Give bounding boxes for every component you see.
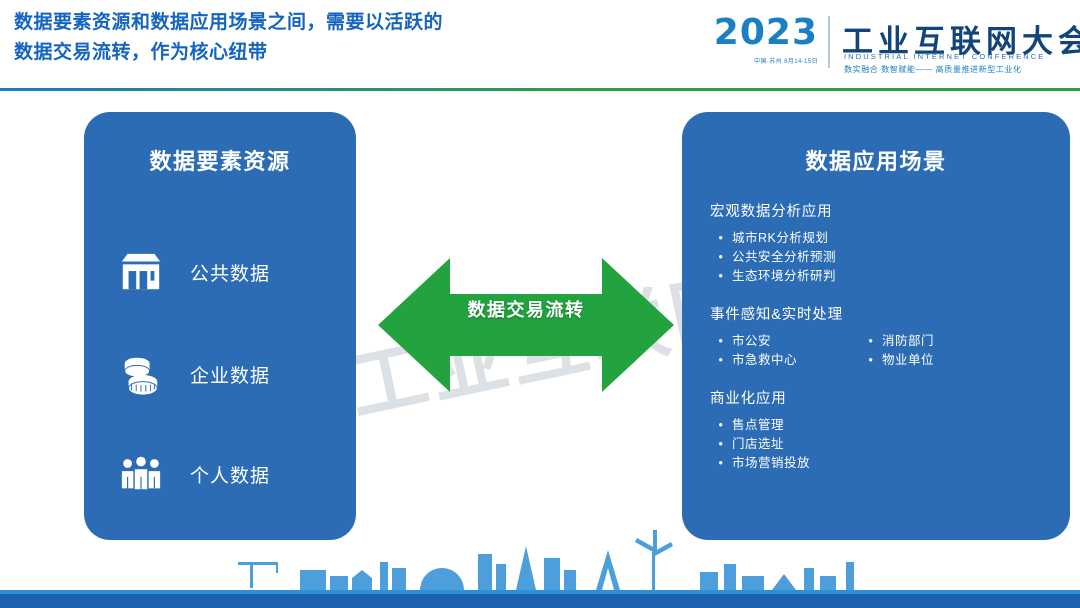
slide-canvas: 数据要素资源和数据应用场景之间，需要以活跃的 数据交易流转，作为核心纽带 202…	[0, 0, 1080, 608]
bullet-dot: •	[710, 267, 732, 286]
right-panel-body: 宏观数据分析应用 •城市RK分析规划 •公共安全分析预测 •生态环境分析研判 事…	[710, 200, 1050, 490]
page-title: 数据要素资源和数据应用场景之间，需要以活跃的 数据交易流转，作为核心纽带	[14, 8, 654, 68]
section-column: •售点管理 •门店选址 •市场营销投放	[710, 416, 970, 473]
bullet-label: 售点管理	[732, 416, 784, 435]
header-divider-rule	[0, 88, 1080, 91]
bullet-label: 市场营销投放	[732, 454, 810, 473]
bullet-dot: •	[860, 332, 882, 351]
bullet-dot: •	[860, 351, 882, 370]
section-commercial-applications: 商业化应用 •售点管理 •门店选址 •市场营销投放	[710, 387, 1050, 473]
section-heading: 事件感知&实时处理	[710, 303, 1050, 324]
section-heading: 商业化应用	[710, 387, 1050, 408]
bullet-label: 市急救中心	[732, 351, 797, 370]
logo-year-subtitle: 中国·苏州 8月14-15日	[650, 56, 818, 65]
bullet-label: 门店选址	[732, 435, 784, 454]
logo-year: 2023	[650, 12, 818, 53]
bullet-item: •城市RK分析规划	[710, 229, 970, 248]
list-item-enterprise-data: 企业数据	[118, 352, 270, 396]
bullet-item: •市场营销投放	[710, 454, 970, 473]
logo-divider	[828, 16, 830, 68]
bullet-item: •市公安	[710, 332, 860, 351]
skyline-decoration	[0, 518, 1080, 608]
bullet-item: •物业单位	[860, 351, 1010, 370]
exchange-arrow	[378, 250, 674, 400]
bullet-label: 生态环境分析研判	[732, 267, 836, 286]
bullet-label: 市公安	[732, 332, 771, 351]
section-column: •消防部门 •物业单位	[860, 332, 1010, 370]
title-line-2: 数据交易流转，作为核心纽带	[14, 38, 654, 68]
people-icon	[118, 452, 164, 496]
left-panel-title: 数据要素资源	[84, 144, 356, 176]
bullet-item: •生态环境分析研判	[710, 267, 970, 286]
bullet-item: •市急救中心	[710, 351, 860, 370]
coins-icon	[118, 352, 164, 396]
bullet-label: 物业单位	[882, 351, 934, 370]
bullet-dot: •	[710, 332, 732, 351]
section-column: •市公安 •市急救中心	[710, 332, 860, 370]
bullet-item: •门店选址	[710, 435, 970, 454]
right-panel-title: 数据应用场景	[682, 144, 1070, 176]
conference-logo: 2023 中国·苏州 8月14-15日 工业互联网大会 INDUSTRIAL I…	[650, 12, 1070, 78]
section-event-sensing: 事件感知&实时处理 •市公安 •市急救中心 •消防部门 •物业单位	[710, 303, 1050, 370]
logo-slogan: 数实融合 数智赋能—— 高质量推进新型工业化	[844, 64, 1022, 75]
list-item-label: 企业数据	[190, 361, 270, 388]
list-item-label: 公共数据	[190, 259, 270, 286]
bullet-label: 消防部门	[882, 332, 934, 351]
bullet-dot: •	[710, 416, 732, 435]
list-item-personal-data: 个人数据	[118, 452, 270, 496]
bullet-item: •公共安全分析预测	[710, 248, 970, 267]
left-panel-data-resources: 数据要素资源 公共数据	[84, 112, 356, 540]
bullet-dot: •	[710, 454, 732, 473]
right-panel-application-scenarios: 数据应用场景 宏观数据分析应用 •城市RK分析规划 •公共安全分析预测 •生态环…	[682, 112, 1070, 540]
shop-icon	[118, 250, 164, 294]
bullet-label: 公共安全分析预测	[732, 248, 836, 267]
title-line-1: 数据要素资源和数据应用场景之间，需要以活跃的	[14, 8, 654, 38]
list-item-public-data: 公共数据	[118, 250, 270, 294]
arrow-label: 数据交易流转	[378, 296, 674, 322]
section-heading: 宏观数据分析应用	[710, 200, 1050, 221]
section-macro-analysis: 宏观数据分析应用 •城市RK分析规划 •公共安全分析预测 •生态环境分析研判	[710, 200, 1050, 286]
bullet-item: •消防部门	[860, 332, 1010, 351]
list-item-label: 个人数据	[190, 461, 270, 488]
bullet-item: •售点管理	[710, 416, 970, 435]
bullet-dot: •	[710, 435, 732, 454]
section-column: •城市RK分析规划 •公共安全分析预测 •生态环境分析研判	[710, 229, 970, 286]
logo-english-name: INDUSTRIAL INTERNET CONFERENCE	[844, 52, 1045, 61]
bullet-dot: •	[710, 229, 732, 248]
bullet-dot: •	[710, 351, 732, 370]
bullet-label: 城市RK分析规划	[732, 229, 828, 248]
bullet-dot: •	[710, 248, 732, 267]
